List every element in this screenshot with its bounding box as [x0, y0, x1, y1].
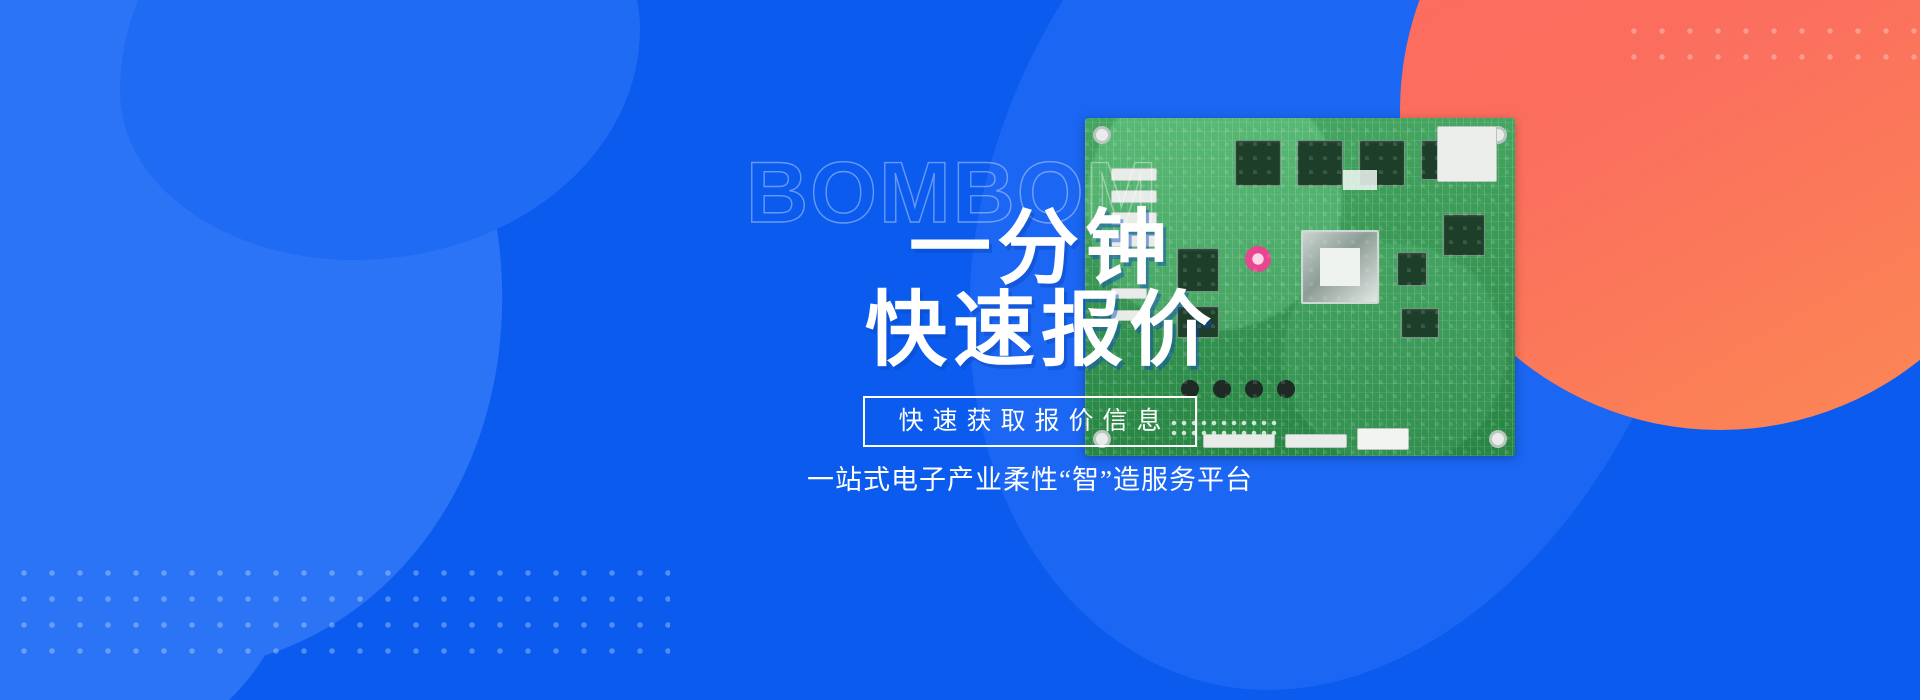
- pcb-mount-hole: [1093, 126, 1111, 144]
- promo-banner: BOMBOM 一分钟 快速报价 快速获取报价信息 一站式电子产业柔性“智”造服务…: [0, 0, 1920, 700]
- headline-line-1: 一分钟: [700, 206, 1360, 292]
- pcb-chip: [1401, 308, 1439, 338]
- tagline-box: 快速获取报价信息: [863, 396, 1196, 447]
- pcb-chip: [1443, 214, 1485, 256]
- pcb-edge-connector: [1357, 428, 1409, 450]
- headline-line-2: 快速报价: [700, 288, 1360, 374]
- pcb-mount-hole: [1489, 126, 1507, 144]
- banner-subtitle: 一站式电子产业柔性“智”造服务平台: [700, 464, 1360, 496]
- dot-grid-bottom-left: [10, 560, 670, 672]
- dot-grid-top-right: [1620, 18, 1920, 76]
- pcb-card-slot: [1437, 126, 1497, 182]
- pcb-mount-hole: [1489, 430, 1507, 448]
- pcb-chip: [1421, 140, 1455, 180]
- banner-text-block: BOMBOM 一分钟 快速报价 快速获取报价信息 一站式电子产业柔性“智”造服务…: [700, 150, 1360, 496]
- pcb-chip: [1359, 140, 1405, 186]
- pcb-chip: [1397, 252, 1427, 286]
